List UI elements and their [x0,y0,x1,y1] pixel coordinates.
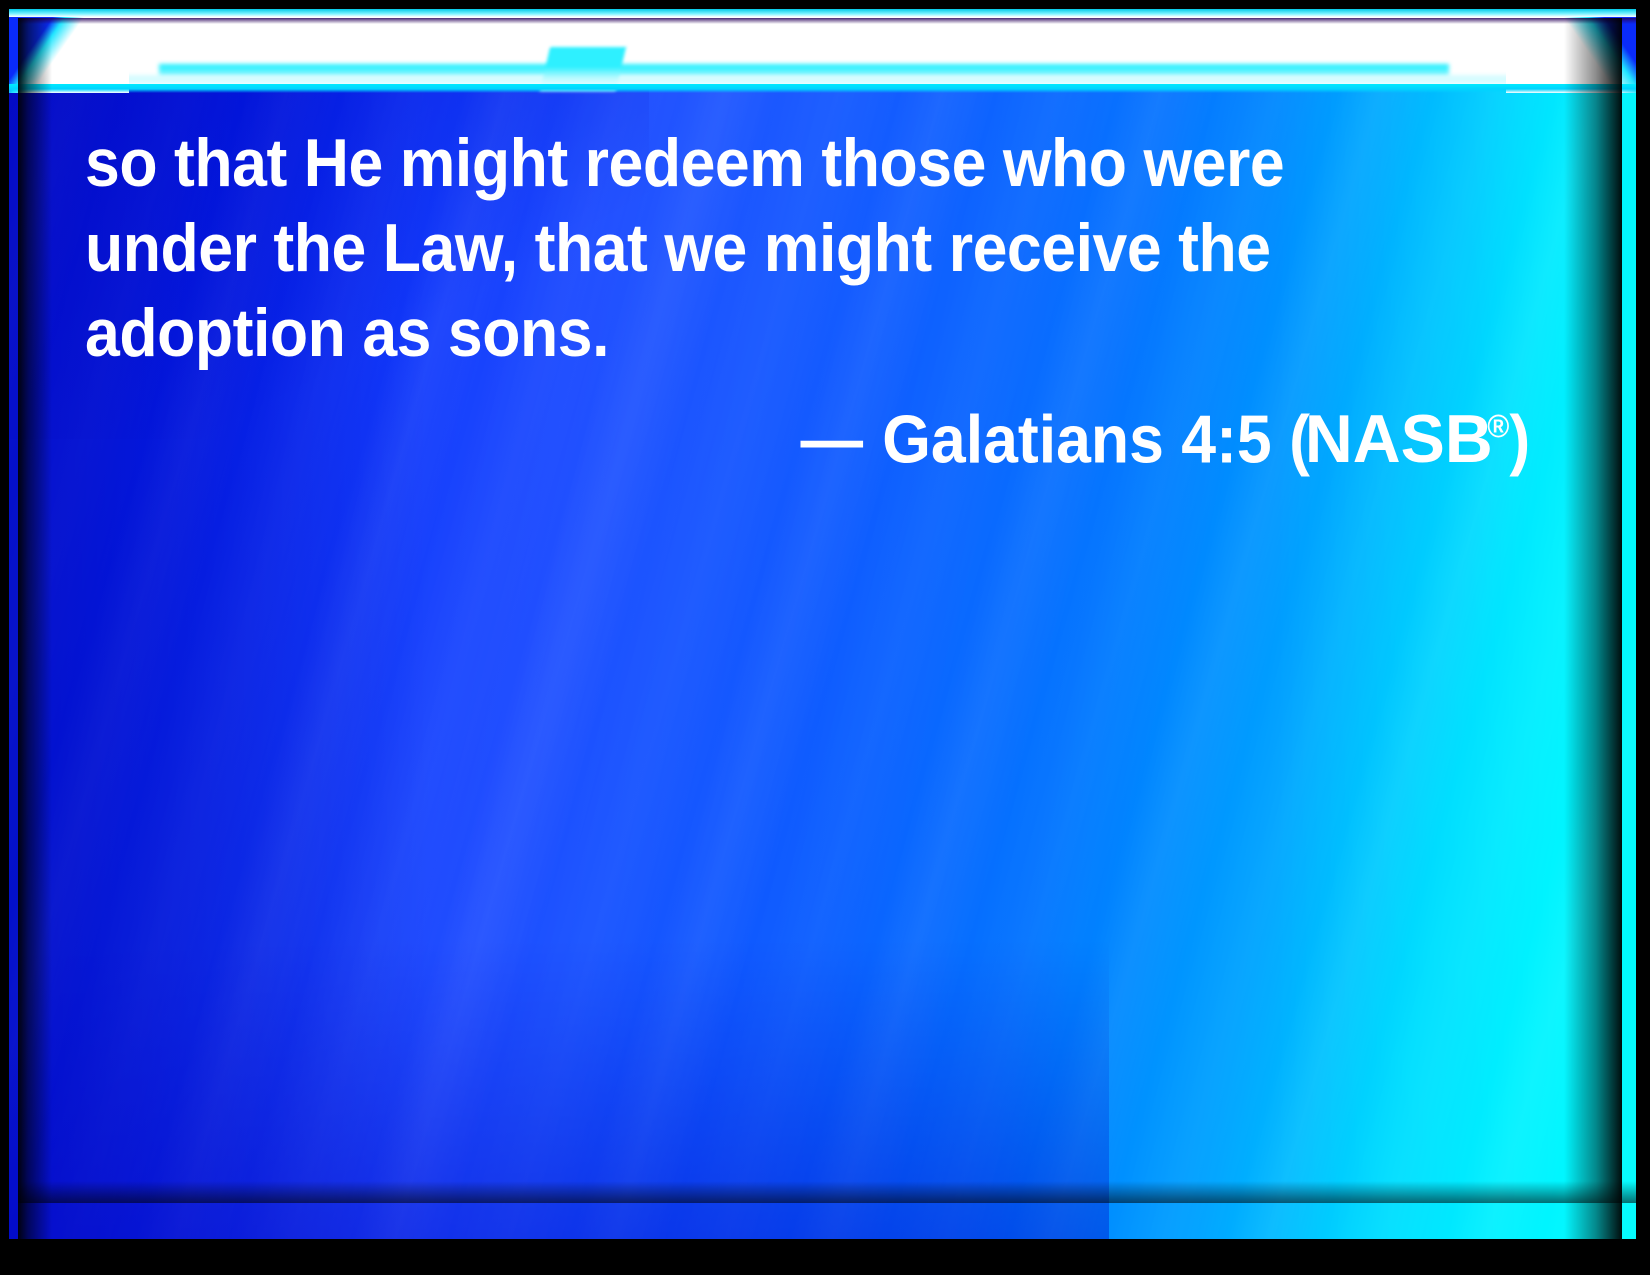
attribution-bible-version: NASB [1304,397,1492,482]
attribution-inner: — Galatians 4:5 (NASB®) [800,383,1530,482]
frame-border-bottom [0,1239,1650,1275]
verse-line-2: under the Law, that we might receive the [85,206,1428,291]
frame-border-left [0,0,9,1275]
verse-text-block: so that He might redeem those who were u… [85,121,1428,376]
attribution-em-dash: — [800,401,864,477]
text-layer: so that He might redeem those who were u… [9,9,1636,1239]
verse-line-3: adoption as sons. [85,291,1428,376]
frame-border-right [1636,0,1650,1275]
verse-line-1: so that He might redeem those who were [85,121,1428,206]
attribution-reference: Galatians 4:5 [882,401,1271,477]
slide-background: so that He might redeem those who were u… [9,9,1636,1239]
attribution-close-paren: ) [1509,401,1530,477]
verse-slide: so that He might redeem those who were u… [0,0,1650,1275]
verse-attribution: — Galatians 4:5 (NASB®) [85,383,1530,482]
frame-border-top [0,0,1650,9]
